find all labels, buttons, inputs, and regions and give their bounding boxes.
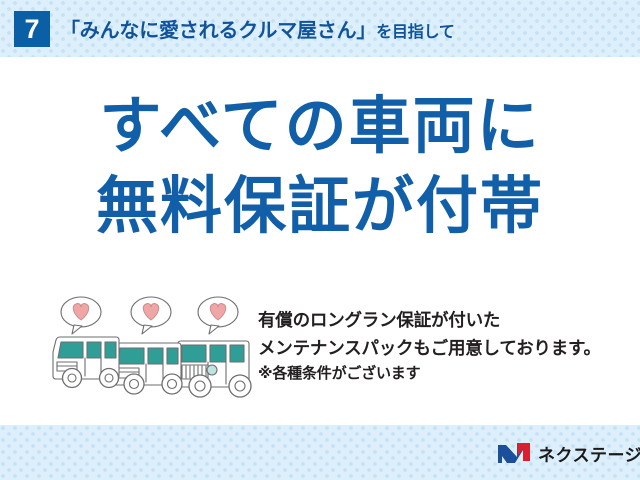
header-title: 「みんなに愛されるクルマ屋さん」 を目指して (60, 14, 455, 43)
headline-line-2: 無料保証が付帯 (0, 176, 640, 238)
car-minivan (112, 343, 182, 394)
speech-bubble-1 (61, 297, 101, 334)
car-kei-wagon (53, 337, 119, 388)
promotional-banner: 7 「みんなに愛されるクルマ屋さん」 を目指して すべての車両に 無料保証が付帯 (0, 0, 640, 480)
step-number-badge: 7 (14, 11, 50, 47)
headline-line-1: すべての車両に (0, 96, 640, 158)
brand-wordmark: ネクステージ (538, 441, 640, 466)
speech-bubble-2 (131, 297, 171, 334)
brand-logo: ネクステージ (497, 440, 640, 466)
car-illustration (50, 292, 255, 402)
body-copy-line-2: メンテナンスパックもご用意しております。 (258, 335, 628, 363)
header-title-main: 「みんなに愛されるクルマ屋さん」 (60, 14, 376, 43)
header-title-tail: を目指して (376, 18, 455, 42)
headline: すべての車両に 無料保証が付帯 (0, 96, 640, 238)
car-suv (178, 341, 251, 397)
header: 7 「みんなに愛されるクルマ屋さん」 を目指して (0, 0, 640, 57)
car-illustration-svg (50, 292, 255, 402)
body-copy: 有償のロングラン保証が付いた メンテナンスパックもご用意しております。 ※各種条… (258, 307, 628, 386)
speech-bubble-3 (198, 297, 238, 334)
body-copy-note: ※各種条件がございます (258, 362, 628, 386)
body-copy-line-1: 有償のロングラン保証が付いた (258, 307, 628, 335)
nextage-n-mark-icon (497, 441, 531, 465)
